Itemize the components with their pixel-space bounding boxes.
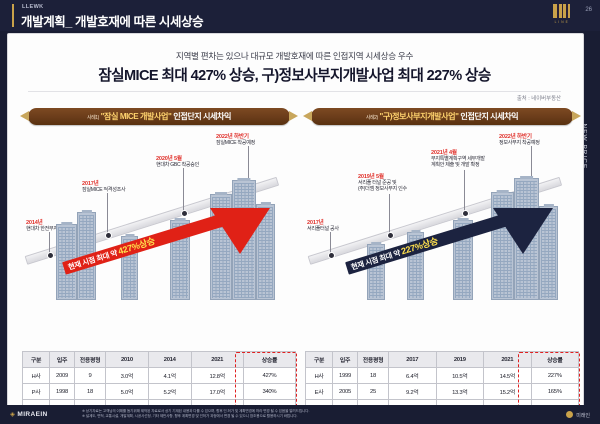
timeline-desc: 계획안 제출 및 개발 확정 <box>431 162 485 168</box>
panel-1-banner-text: 사례1) "잠실 MICE 개발사업" 인접단지 시세차익 <box>28 108 290 125</box>
table-cell: 1998 <box>50 384 75 400</box>
footer-disclaimer: ※ 상기자료는 고객님의 이해를 돕기위해 제작된 자료로서 상기 기재된 내용… <box>82 409 309 419</box>
corner-logo-caption: L I N E <box>553 20 570 24</box>
arrow-caption-prefix: 현재 시점 최대 약 <box>350 248 403 272</box>
arrow-caption-1: 현재 시점 최대 약 427%상승 <box>66 234 156 273</box>
panel-1-case-prefix: 사례1) <box>87 115 99 121</box>
table-col-header: 전용평형 <box>75 352 106 368</box>
source-note: 출처 : 네이버부동산 <box>517 94 561 102</box>
table-cell: 5.2억 <box>148 384 191 400</box>
panel-case-1: 사례1) "잠실 MICE 개발사업" 인접단지 시세차익 2014년 현대차 … <box>20 108 298 400</box>
table-cell: 427% <box>243 368 295 384</box>
table-cell: H사 <box>306 368 333 384</box>
timeline-label-1: 2017년 서리풀터널 공사 <box>307 218 339 232</box>
timeline-desc: 현대차 GBC 착공승인 <box>156 162 199 168</box>
table-col-header: 구분 <box>23 352 50 368</box>
table-cell: 18 <box>358 368 389 384</box>
table-cell: 9.2억 <box>389 384 437 400</box>
timeline-desc: 잠실MICE 착공예정 <box>216 140 255 146</box>
table-col-header: 2021 <box>484 352 532 368</box>
table-cell: 1999 <box>333 368 358 384</box>
panel-2-case-prefix: 사례2) <box>366 115 378 121</box>
header-accent-bar <box>12 4 14 27</box>
table-cell: P사 <box>23 384 50 400</box>
slide-header: LLEWK 개발계획_ 개발호재에 따른 시세상승 L I N E 26 <box>0 0 600 31</box>
table-row: E사2005259.2억13.3억15.2억165% <box>306 384 579 400</box>
panel-2-banner: 사례2) "구)정보사부지개발사업" 인접단지 시세차익 <box>311 108 573 125</box>
timeline-year: 2022년 하반기 <box>499 132 540 140</box>
arrow-caption-prefix: 현재 시점 최대 약 <box>67 248 120 272</box>
timeline-label-2: 2017년 잠실MICE 적격성조사 <box>82 179 125 193</box>
table-cell: 14.5억 <box>484 368 532 384</box>
timeline-year: 2022년 하반기 <box>216 132 255 140</box>
timeline-dot <box>328 252 335 259</box>
table-cell: 227% <box>531 368 578 384</box>
page-title: 개발계획_ 개발호재에 따른 시세상승 <box>21 11 203 30</box>
table-col-header: 2017 <box>389 352 437 368</box>
footer-logo: ◈MIRAEIN <box>10 410 48 418</box>
table-col-header: 구분 <box>306 352 333 368</box>
table-col-header: 2010 <box>106 352 149 368</box>
timeline-year: 2019년 5월 <box>358 172 407 180</box>
timeline-stem <box>330 232 331 254</box>
table-cell: 18 <box>75 384 106 400</box>
arrow-caption-value: 427%상승 <box>117 236 156 257</box>
timeline-desc: 잠실MICE 적격성조사 <box>82 187 125 193</box>
footer-logo-icon: ◈ <box>10 411 15 418</box>
growth-arrow-1: 현재 시점 최대 약 427%상승 <box>60 204 270 300</box>
table-row: P사1998185.0억5.2억17.0억340% <box>23 384 296 400</box>
timeline-desc: (주)더엠 정보사부지 인수 <box>358 186 407 192</box>
table-col-header: 2014 <box>148 352 191 368</box>
timeline-year: 2020년 5월 <box>156 154 199 162</box>
table-cell: 5.0억 <box>106 384 149 400</box>
side-rail <box>583 33 599 405</box>
timeline-year: 2017년 <box>82 179 125 187</box>
table-row: H사1999186.4억10.5억14.5억227% <box>306 368 579 384</box>
arrow-head-icon <box>493 208 553 254</box>
headline-main: 잠실MICE 최대 427% 상승, 구)정보사부지개발사업 최대 227% 상… <box>8 64 581 85</box>
table-cell: 25 <box>358 384 389 400</box>
panel-2-banner-text: 사례2) "구)정보사부지개발사업" 인접단지 시세차익 <box>311 108 573 125</box>
table-row: H사200993.0억4.1억12.8억427% <box>23 368 296 384</box>
timeline-desc: 서리풀터널 공사 <box>307 226 339 232</box>
table-cell: 2009 <box>50 368 75 384</box>
timeline-label-3: 2020년 5월 현대차 GBC 착공승인 <box>156 154 199 168</box>
panel-2-timeline: 2017년 서리풀터널 공사 2019년 5월 서리풀 터널 준공 및 (주)더… <box>303 132 581 312</box>
panel-2-quoted: "구)정보사부지개발사업" <box>380 112 459 121</box>
banner-wing-right-icon <box>289 111 298 121</box>
timeline-dot <box>47 252 54 259</box>
table-col-header: 입주 <box>50 352 75 368</box>
table-cell: E사 <box>306 384 333 400</box>
corner-logo-icon: L I N E <box>553 4 570 26</box>
panel-case-2: 사례2) "구)정보사부지개발사업" 인접단지 시세차익 2017년 서리풀터널… <box>303 108 581 400</box>
table-cell: 165% <box>531 384 578 400</box>
table-cell: 13.3억 <box>436 384 484 400</box>
timeline-stem <box>49 232 50 254</box>
headline-kicker: 지역별 편차는 있으나 대규모 개발호재에 따른 인접지역 시세상승 우수 <box>8 50 581 62</box>
table-col-header: 상승률 <box>531 352 578 368</box>
table-cell: H사 <box>23 368 50 384</box>
content-card: 지역별 편차는 있으나 대규모 개발호재에 따른 인접지역 시세상승 우수 잠실… <box>7 33 584 407</box>
table-cell: 15.2억 <box>484 384 532 400</box>
table-col-header: 2019 <box>436 352 484 368</box>
banner-wing-right-icon <box>572 111 581 121</box>
arrow-head-icon <box>210 208 270 254</box>
panel-1-banner-tail: 인접단지 시세차익 <box>173 112 231 121</box>
timeline-label-3: 2021년 4월 부지특별계획구역 세부개발 계획안 제출 및 개발 확정 <box>431 148 485 169</box>
timeline-label-4: 2022년 하반기 잠실MICE 착공예정 <box>216 132 255 146</box>
table-cell: 6.4억 <box>389 368 437 384</box>
footer-disclaimer-line: ※ 상기자료는 고객님의 이해를 돕기위해 제작된 자료로서 상기 기재된 내용… <box>82 409 309 414</box>
panel-1-quoted: "잠실 MICE 개발사업" <box>101 112 172 121</box>
table-col-header: 입주 <box>333 352 358 368</box>
timeline-label-2: 2019년 5월 서리풀 터널 준공 및 (주)더엠 정보사부지 인수 <box>358 172 407 193</box>
table-col-header: 전용평형 <box>358 352 389 368</box>
panel-2-banner-tail: 인접단지 시세차익 <box>460 112 518 121</box>
table-cell: 17.0억 <box>191 384 243 400</box>
slide-footer: ◈MIRAEIN ※ 상기자료는 고객님의 이해를 돕기위해 제작된 자료로서 … <box>0 405 600 424</box>
brand-mark: LLEWK <box>22 4 44 10</box>
timeline-year: 2017년 <box>307 218 339 226</box>
table-header-row: 구분입주전용평형201720192021상승률 <box>306 352 579 368</box>
timeline-label-4: 2022년 하반기 정보사부지 착공예정 <box>499 132 540 146</box>
panel-1-timeline: 2014년 현대차 한전부지 인수 2017년 잠실MICE 적격성조사 202… <box>20 132 298 312</box>
page-number: 26 <box>585 7 592 13</box>
footer-badge-icon <box>566 411 573 418</box>
headline-divider <box>28 91 561 92</box>
footer-logo-text: MIRAEIN <box>17 411 47 418</box>
table-cell: 12.8억 <box>191 368 243 384</box>
slide-root: LLEWK 개발계획_ 개발호재에 따른 시세상승 L I N E 26 NEW… <box>0 0 600 424</box>
timeline-desc: 정보사부지 착공예정 <box>499 140 540 146</box>
footer-right-label: 미래인 <box>576 413 590 419</box>
table-col-header: 2021 <box>191 352 243 368</box>
table-header-row: 구분입주전용평형201020142021상승률 <box>23 352 296 368</box>
table-cell: 10.5억 <box>436 368 484 384</box>
table-cell: 4.1억 <box>148 368 191 384</box>
growth-arrow-2: 현재 시점 최대 약 227%상승 <box>343 204 553 300</box>
table-cell: 3.0억 <box>106 368 149 384</box>
table-cell: 2005 <box>333 384 358 400</box>
timeline-year: 2021년 4월 <box>431 148 485 156</box>
table-cell: 9 <box>75 368 106 384</box>
table-col-header: 상승률 <box>243 352 295 368</box>
footer-right: 미래인 <box>566 411 590 419</box>
arrow-caption-2: 현재 시점 최대 약 227%상승 <box>349 234 439 273</box>
table-cell: 340% <box>243 384 295 400</box>
footer-disclaimer-line: ※ 설계도, 면적, 교통시설, 개발계획, 시공사선정, 기타 제반사항, 향… <box>82 414 309 419</box>
panel-1-banner: 사례1) "잠실 MICE 개발사업" 인접단지 시세차익 <box>28 108 290 125</box>
arrow-caption-value: 227%상승 <box>400 236 439 257</box>
